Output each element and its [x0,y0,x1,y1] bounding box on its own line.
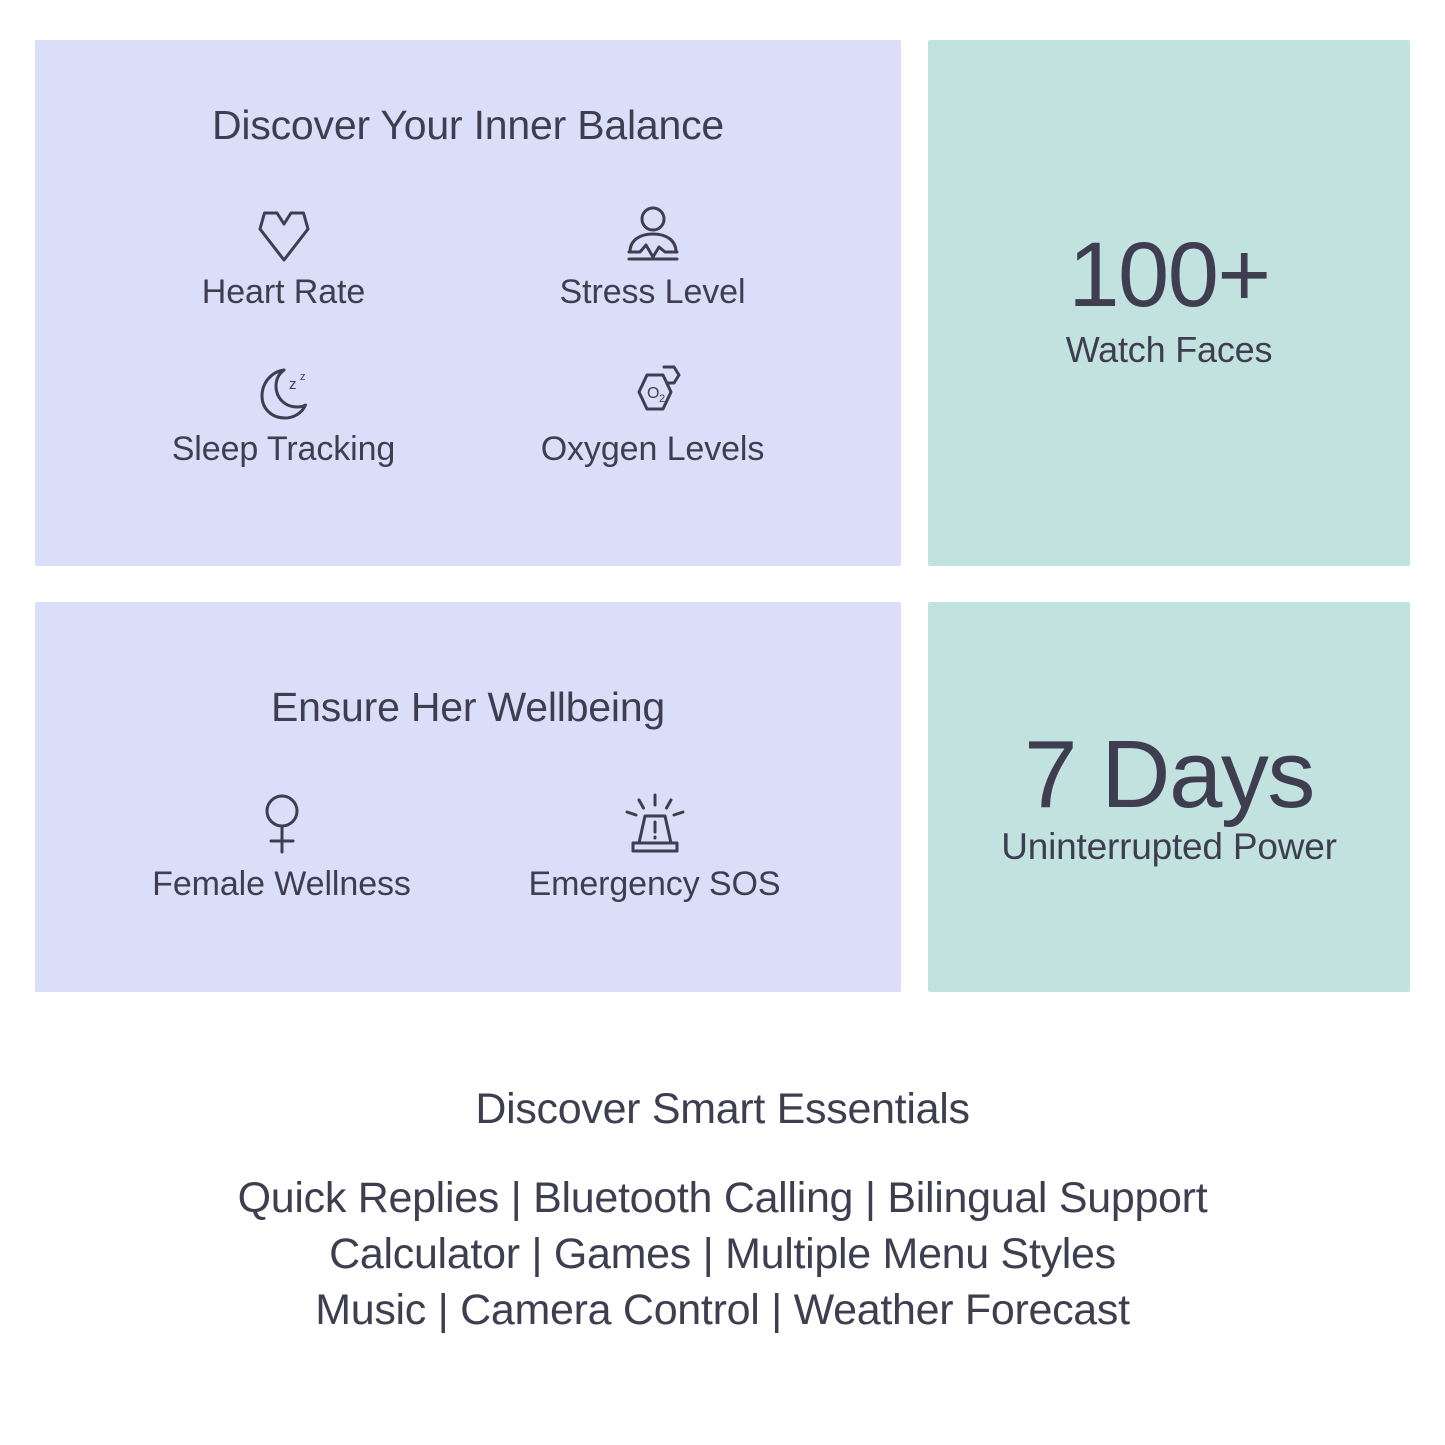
battery-value: 7 Days [1024,726,1314,824]
essentials-line: Quick Replies | Bluetooth Calling | Bili… [0,1170,1445,1226]
moon-zzz-icon: z z [253,358,315,420]
panel-her-wellbeing: Ensure Her Wellbeing Female Wellness [35,602,901,992]
smart-essentials-section: Discover Smart Essentials Quick Replies … [0,1085,1445,1338]
watch-faces-value: 100+ [1068,229,1269,323]
panel-title-inner-balance: Discover Your Inner Balance [35,102,901,149]
battery-label: Uninterrupted Power [1001,826,1337,868]
panel-title-her-wellbeing: Ensure Her Wellbeing [35,684,901,731]
feature-emergency-sos[interactable]: Emergency SOS [468,793,841,904]
oxygen-hexagon-icon: O 2 [623,358,683,420]
feature-label: Heart Rate [202,273,365,312]
essentials-list: Quick Replies | Bluetooth Calling | Bili… [0,1170,1445,1338]
feature-label: Female Wellness [152,865,411,904]
wellness-feature-grid: Female Wellness Emer [35,793,901,904]
health-feature-grid: Heart Rate Stress Level z [35,201,901,469]
stress-person-icon [624,201,682,263]
essentials-line: Calculator | Games | Multiple Menu Style… [0,1226,1445,1282]
panel-watch-faces: 100+ Watch Faces [928,40,1410,566]
watch-faces-stat: 100+ Watch Faces [928,40,1410,566]
feature-label: Emergency SOS [529,865,781,904]
feature-stress-level[interactable]: Stress Level [468,201,837,312]
feature-label: Oxygen Levels [541,430,765,469]
svg-text:z: z [300,371,306,383]
svg-text:z: z [289,376,297,393]
essentials-line: Music | Camera Control | Weather Forecas… [0,1282,1445,1338]
feature-label: Stress Level [560,273,746,312]
watch-faces-label: Watch Faces [1066,329,1273,371]
svg-text:O: O [647,385,659,402]
essentials-title: Discover Smart Essentials [0,1085,1445,1134]
feature-label: Sleep Tracking [172,430,396,469]
feature-panel-grid: Discover Your Inner Balance Heart Rate [35,40,1410,992]
feature-oxygen-levels[interactable]: O 2 Oxygen Levels [468,358,837,469]
feature-sleep-tracking[interactable]: z z Sleep Tracking [99,358,468,469]
feature-female-wellness[interactable]: Female Wellness [95,793,468,904]
venus-symbol-icon [260,793,304,855]
heart-icon [253,201,315,263]
svg-text:2: 2 [659,393,665,405]
panel-inner-balance: Discover Your Inner Balance Heart Rate [35,40,901,566]
siren-beacon-icon [621,793,689,855]
panel-battery-life: 7 Days Uninterrupted Power [928,602,1410,992]
battery-stat: 7 Days Uninterrupted Power [928,602,1410,992]
feature-heart-rate[interactable]: Heart Rate [99,201,468,312]
